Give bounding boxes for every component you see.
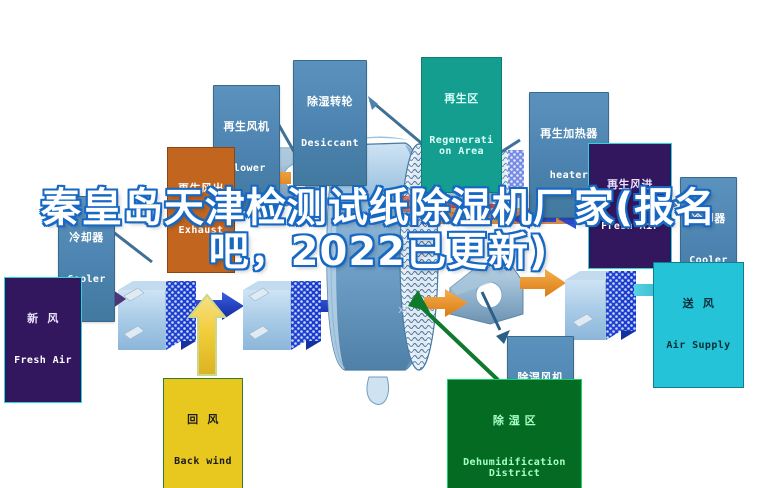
callout-air-supply: 送 风 Air Supply <box>653 262 744 388</box>
callout-regen-exhaust: 再生风出 Exhaust <box>167 147 235 273</box>
callout-dehumidification-district: 除 湿 区 Dehumidification District <box>447 379 582 488</box>
process-cooler-2 <box>243 281 321 350</box>
supply-duct <box>565 271 636 340</box>
screenshot-canvas: xt <box>0 0 757 488</box>
dehumidification-blower <box>450 266 523 324</box>
callout-cooler-left-cn: 冷却器 <box>64 232 109 243</box>
diagram-watermark: xt <box>398 303 410 316</box>
callout-cooler-right-cn: 冷却器 <box>686 213 731 224</box>
callout-back-wind-cn: 回 风 <box>169 414 237 425</box>
callout-regen-exhaust-en: Exhaust <box>173 226 229 236</box>
callout-fresh-air-cn: 新 风 <box>10 313 76 324</box>
callout-desiccant-wheel-en: Desiccant <box>299 139 361 149</box>
callout-regen-exhaust-cn: 再生风出 <box>173 183 229 194</box>
callout-desiccant-wheel-cn: 除湿转轮 <box>299 96 361 107</box>
callout-air-supply-cn: 送 风 <box>659 298 738 309</box>
callout-dehumid-district-cn: 除 湿 区 <box>453 415 576 426</box>
callout-air-supply-en: Air Supply <box>659 341 738 351</box>
callout-regeneration-area-cn: 再生区 <box>426 93 497 104</box>
callout-regeneration-area: 再生区 Regenerati on Area <box>421 57 502 193</box>
callout-back-wind: 回 风 Back wind <box>163 378 243 488</box>
callout-desiccant-wheel: 除湿转轮 Desiccant <box>293 60 367 186</box>
callout-back-wind-en: Back wind <box>169 457 237 467</box>
callout-regen-fresh-air: 再生风进 Fresh Air <box>588 143 672 269</box>
callout-regen-heater-cn: 再生加热器 <box>535 128 603 139</box>
callout-regen-blower-cn: 再生风机 <box>219 121 274 132</box>
callout-fresh-air-en: Fresh Air <box>10 356 76 366</box>
process-cooler-1 <box>118 281 196 350</box>
callout-dehumid-district-en: Dehumidification District <box>453 458 576 478</box>
dehumid-airflow-arrow-2 <box>520 269 566 297</box>
callout-regen-fresh-air-cn: 再生风进 <box>594 179 666 190</box>
callout-fresh-air: 新 风 Fresh Air <box>4 277 82 403</box>
callout-regen-fresh-air-en: Fresh Air <box>594 222 666 232</box>
callout-regeneration-area-en: Regenerati on Area <box>426 136 497 156</box>
